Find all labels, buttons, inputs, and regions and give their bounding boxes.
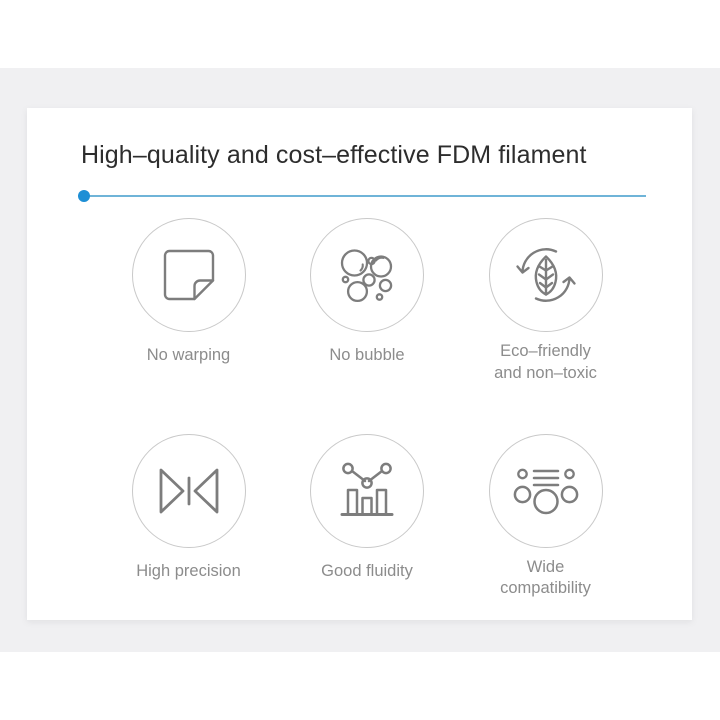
feature-icon-circle	[132, 434, 246, 548]
feature-card: High–quality and cost–effective FDM fila…	[27, 108, 692, 620]
feature-wide-compatibility[interactable]: Wide compatibility	[464, 434, 627, 601]
divider-dot	[78, 190, 90, 202]
align-center-triangles-icon	[157, 465, 221, 517]
feature-label: Good fluidity	[321, 561, 413, 583]
bar-line-chart-icon	[335, 460, 399, 522]
title-divider	[78, 190, 648, 202]
feature-label: No warping	[147, 345, 230, 367]
recycle-leaf-icon	[512, 241, 580, 309]
feature-icon-circle	[489, 218, 603, 332]
feature-icon-circle	[310, 434, 424, 548]
feature-eco-friendly[interactable]: Eco–friendly and non–toxic	[464, 218, 627, 385]
feature-icon-circle	[310, 218, 424, 332]
feature-high-precision[interactable]: High precision	[107, 434, 270, 583]
feature-icon-circle	[132, 218, 246, 332]
feature-good-fluidity[interactable]: Good fluidity	[286, 434, 449, 583]
feature-no-bubble[interactable]: No bubble	[286, 218, 449, 367]
network-hub-icon	[511, 463, 581, 519]
feature-row: No warping	[107, 218, 627, 385]
bubbles-icon	[331, 239, 403, 311]
feature-grid: No warping	[107, 218, 627, 600]
page-root: High–quality and cost–effective FDM fila…	[0, 0, 720, 720]
divider-line	[84, 195, 646, 197]
feature-label: Wide compatibility	[500, 557, 591, 601]
curled-page-icon	[158, 244, 220, 306]
feature-no-warping[interactable]: No warping	[107, 218, 270, 367]
feature-label: Eco–friendly and non–toxic	[494, 341, 597, 385]
page-title: High–quality and cost–effective FDM fila…	[81, 141, 587, 170]
feature-icon-circle	[489, 434, 603, 548]
feature-row: High precision	[107, 434, 627, 601]
feature-label: No bubble	[329, 345, 404, 367]
feature-label: High precision	[136, 561, 241, 583]
